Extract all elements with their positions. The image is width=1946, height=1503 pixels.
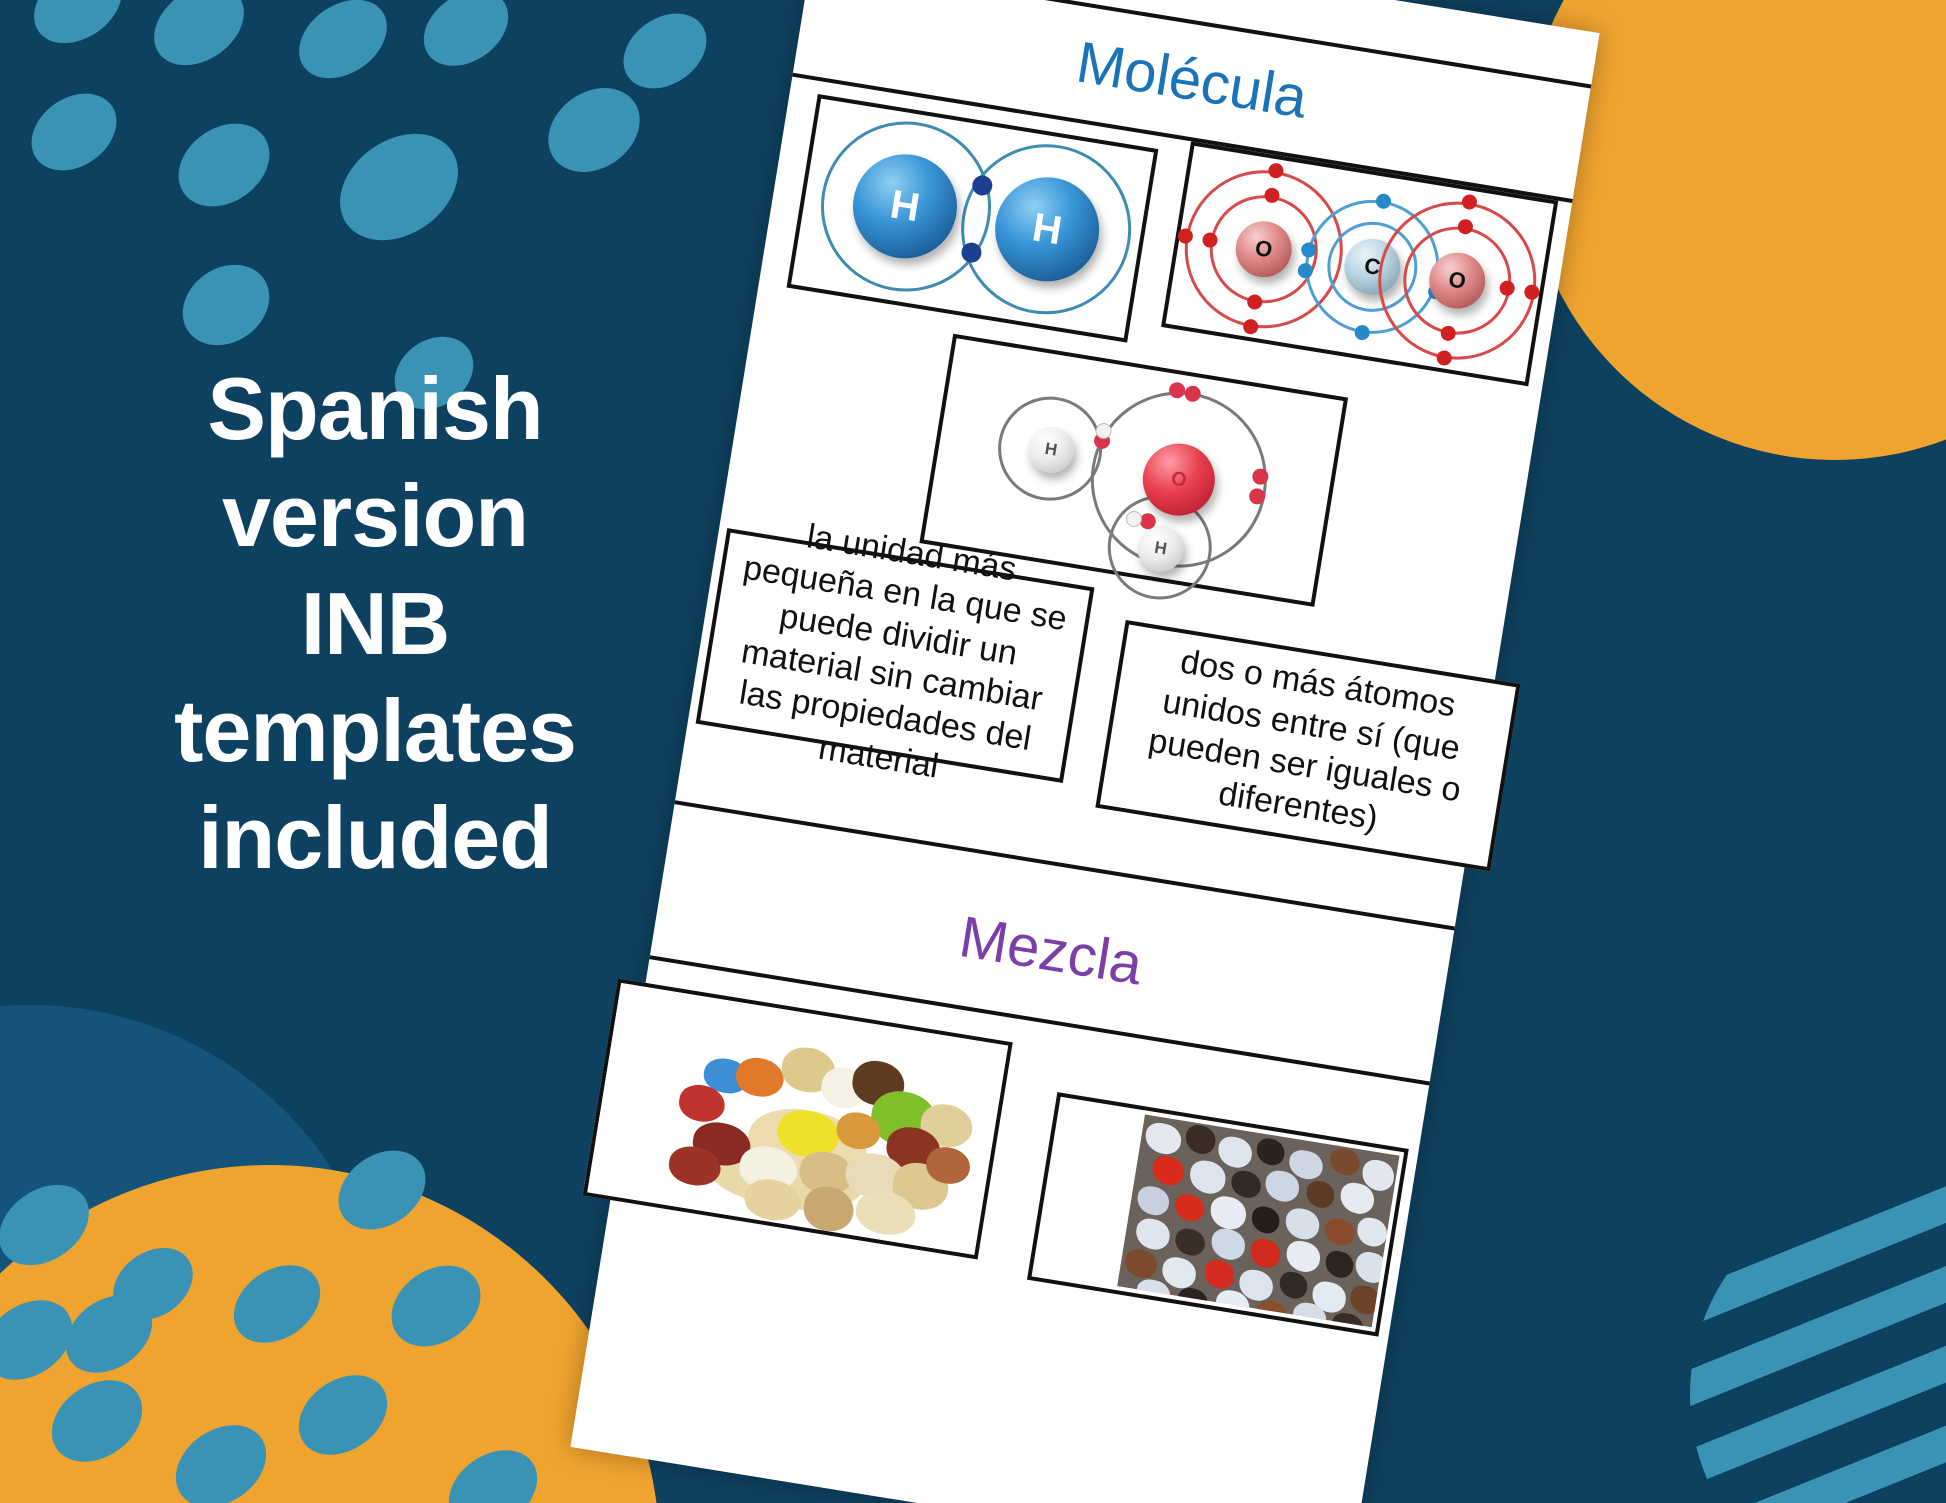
atom-definition-text: la unidad más pequeña en la que se puede… (700, 533, 1090, 779)
teal-dot (163, 107, 286, 224)
atom-definition-box: la unidad más pequeña en la que se puede… (696, 528, 1095, 783)
teal-dot (139, 0, 259, 82)
teal-dot (19, 0, 137, 59)
granite-photo (1117, 1114, 1400, 1327)
teal-dot (167, 248, 285, 361)
headline-line-4: templates (90, 677, 660, 784)
worksheet-page: Molécula H H O (570, 0, 1599, 1503)
teal-dot (320, 112, 479, 262)
teal-dot (409, 0, 522, 81)
headline-line-5: included (90, 784, 660, 891)
molecule-definition-box: dos o más átomos unidos entre sí (que pu… (1095, 620, 1520, 872)
carbon-dioxide-diagram: O C (1166, 146, 1554, 382)
carbon-dioxide-box: O C (1161, 141, 1558, 386)
striped-circle-bottom-right (1690, 1180, 1946, 1503)
granite-photo-box (1027, 1092, 1409, 1336)
promo-canvas: Spanish version INB templates included M… (0, 0, 1946, 1503)
trail-mix-photo-box (583, 978, 1013, 1259)
hydrogen-molecule-diagram: H H (791, 99, 1154, 338)
hydrogen-molecule-box: H H (787, 94, 1159, 343)
molecule-definition-text: dos o más átomos unidos entre sí (que pu… (1100, 625, 1516, 867)
teal-dot (609, 0, 721, 104)
teal-dot (17, 78, 131, 186)
headline-line-2: version (90, 462, 660, 569)
promo-headline: Spanish version INB templates included (90, 355, 660, 892)
headline-line-1: Spanish (90, 355, 660, 462)
headline-line-3: INB (90, 570, 660, 677)
trail-mix-photo (587, 983, 1008, 1255)
teal-dot (532, 71, 656, 189)
teal-dot (284, 0, 402, 94)
